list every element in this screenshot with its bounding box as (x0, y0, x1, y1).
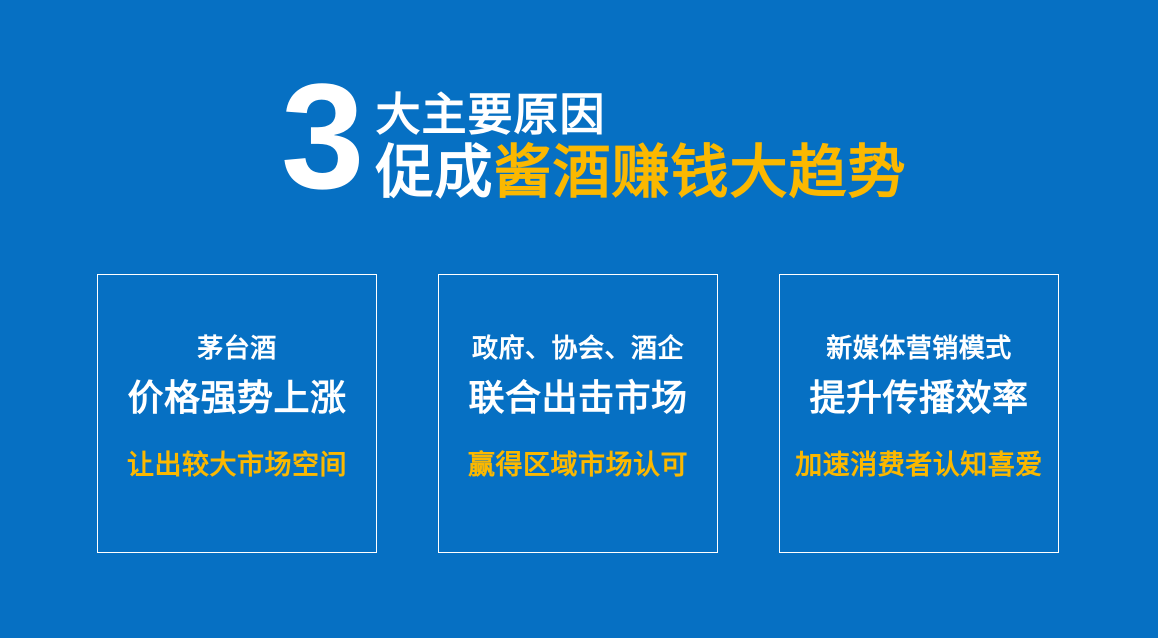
slide-canvas: 3 大主要原因 促成酱酒赚钱大趋势 茅台酒 价格强势上涨 让出较大市场空间 政府… (0, 0, 1158, 638)
reason-card-headline: 联合出击市场 (468, 377, 687, 419)
reason-card-headline: 价格强势上涨 (127, 377, 346, 419)
reason-card-note: 加速消费者认知喜爱 (795, 449, 1043, 481)
reason-count-number: 3 (281, 74, 362, 198)
slide-title: 3 大主要原因 促成酱酒赚钱大趋势 (281, 72, 906, 204)
reason-card[interactable]: 茅台酒 价格强势上涨 让出较大市场空间 (97, 274, 377, 553)
reason-card-eyebrow: 茅台酒 (197, 333, 277, 363)
title-secondary-highlight: 酱酒赚钱大趋势 (493, 140, 906, 205)
title-secondary-prefix: 促成 (375, 140, 493, 205)
title-text-group: 大主要原因 促成酱酒赚钱大趋势 (375, 72, 906, 204)
title-line-secondary: 促成酱酒赚钱大趋势 (375, 142, 906, 204)
reason-card[interactable]: 新媒体营销模式 提升传播效率 加速消费者认知喜爱 (779, 274, 1059, 553)
reason-card-headline: 提升传播效率 (809, 377, 1028, 419)
reason-card-eyebrow: 新媒体营销模式 (826, 333, 1012, 363)
reason-card-eyebrow: 政府、协会、酒企 (472, 333, 684, 363)
reason-card-note: 赢得区域市场认可 (468, 449, 688, 481)
reason-card-list: 茅台酒 价格强势上涨 让出较大市场空间 政府、协会、酒企 联合出击市场 赢得区域… (97, 274, 1059, 553)
reason-card[interactable]: 政府、协会、酒企 联合出击市场 赢得区域市场认可 (438, 274, 718, 553)
reason-card-note: 让出较大市场空间 (127, 449, 347, 481)
title-line-primary: 大主要原因 (375, 90, 906, 140)
